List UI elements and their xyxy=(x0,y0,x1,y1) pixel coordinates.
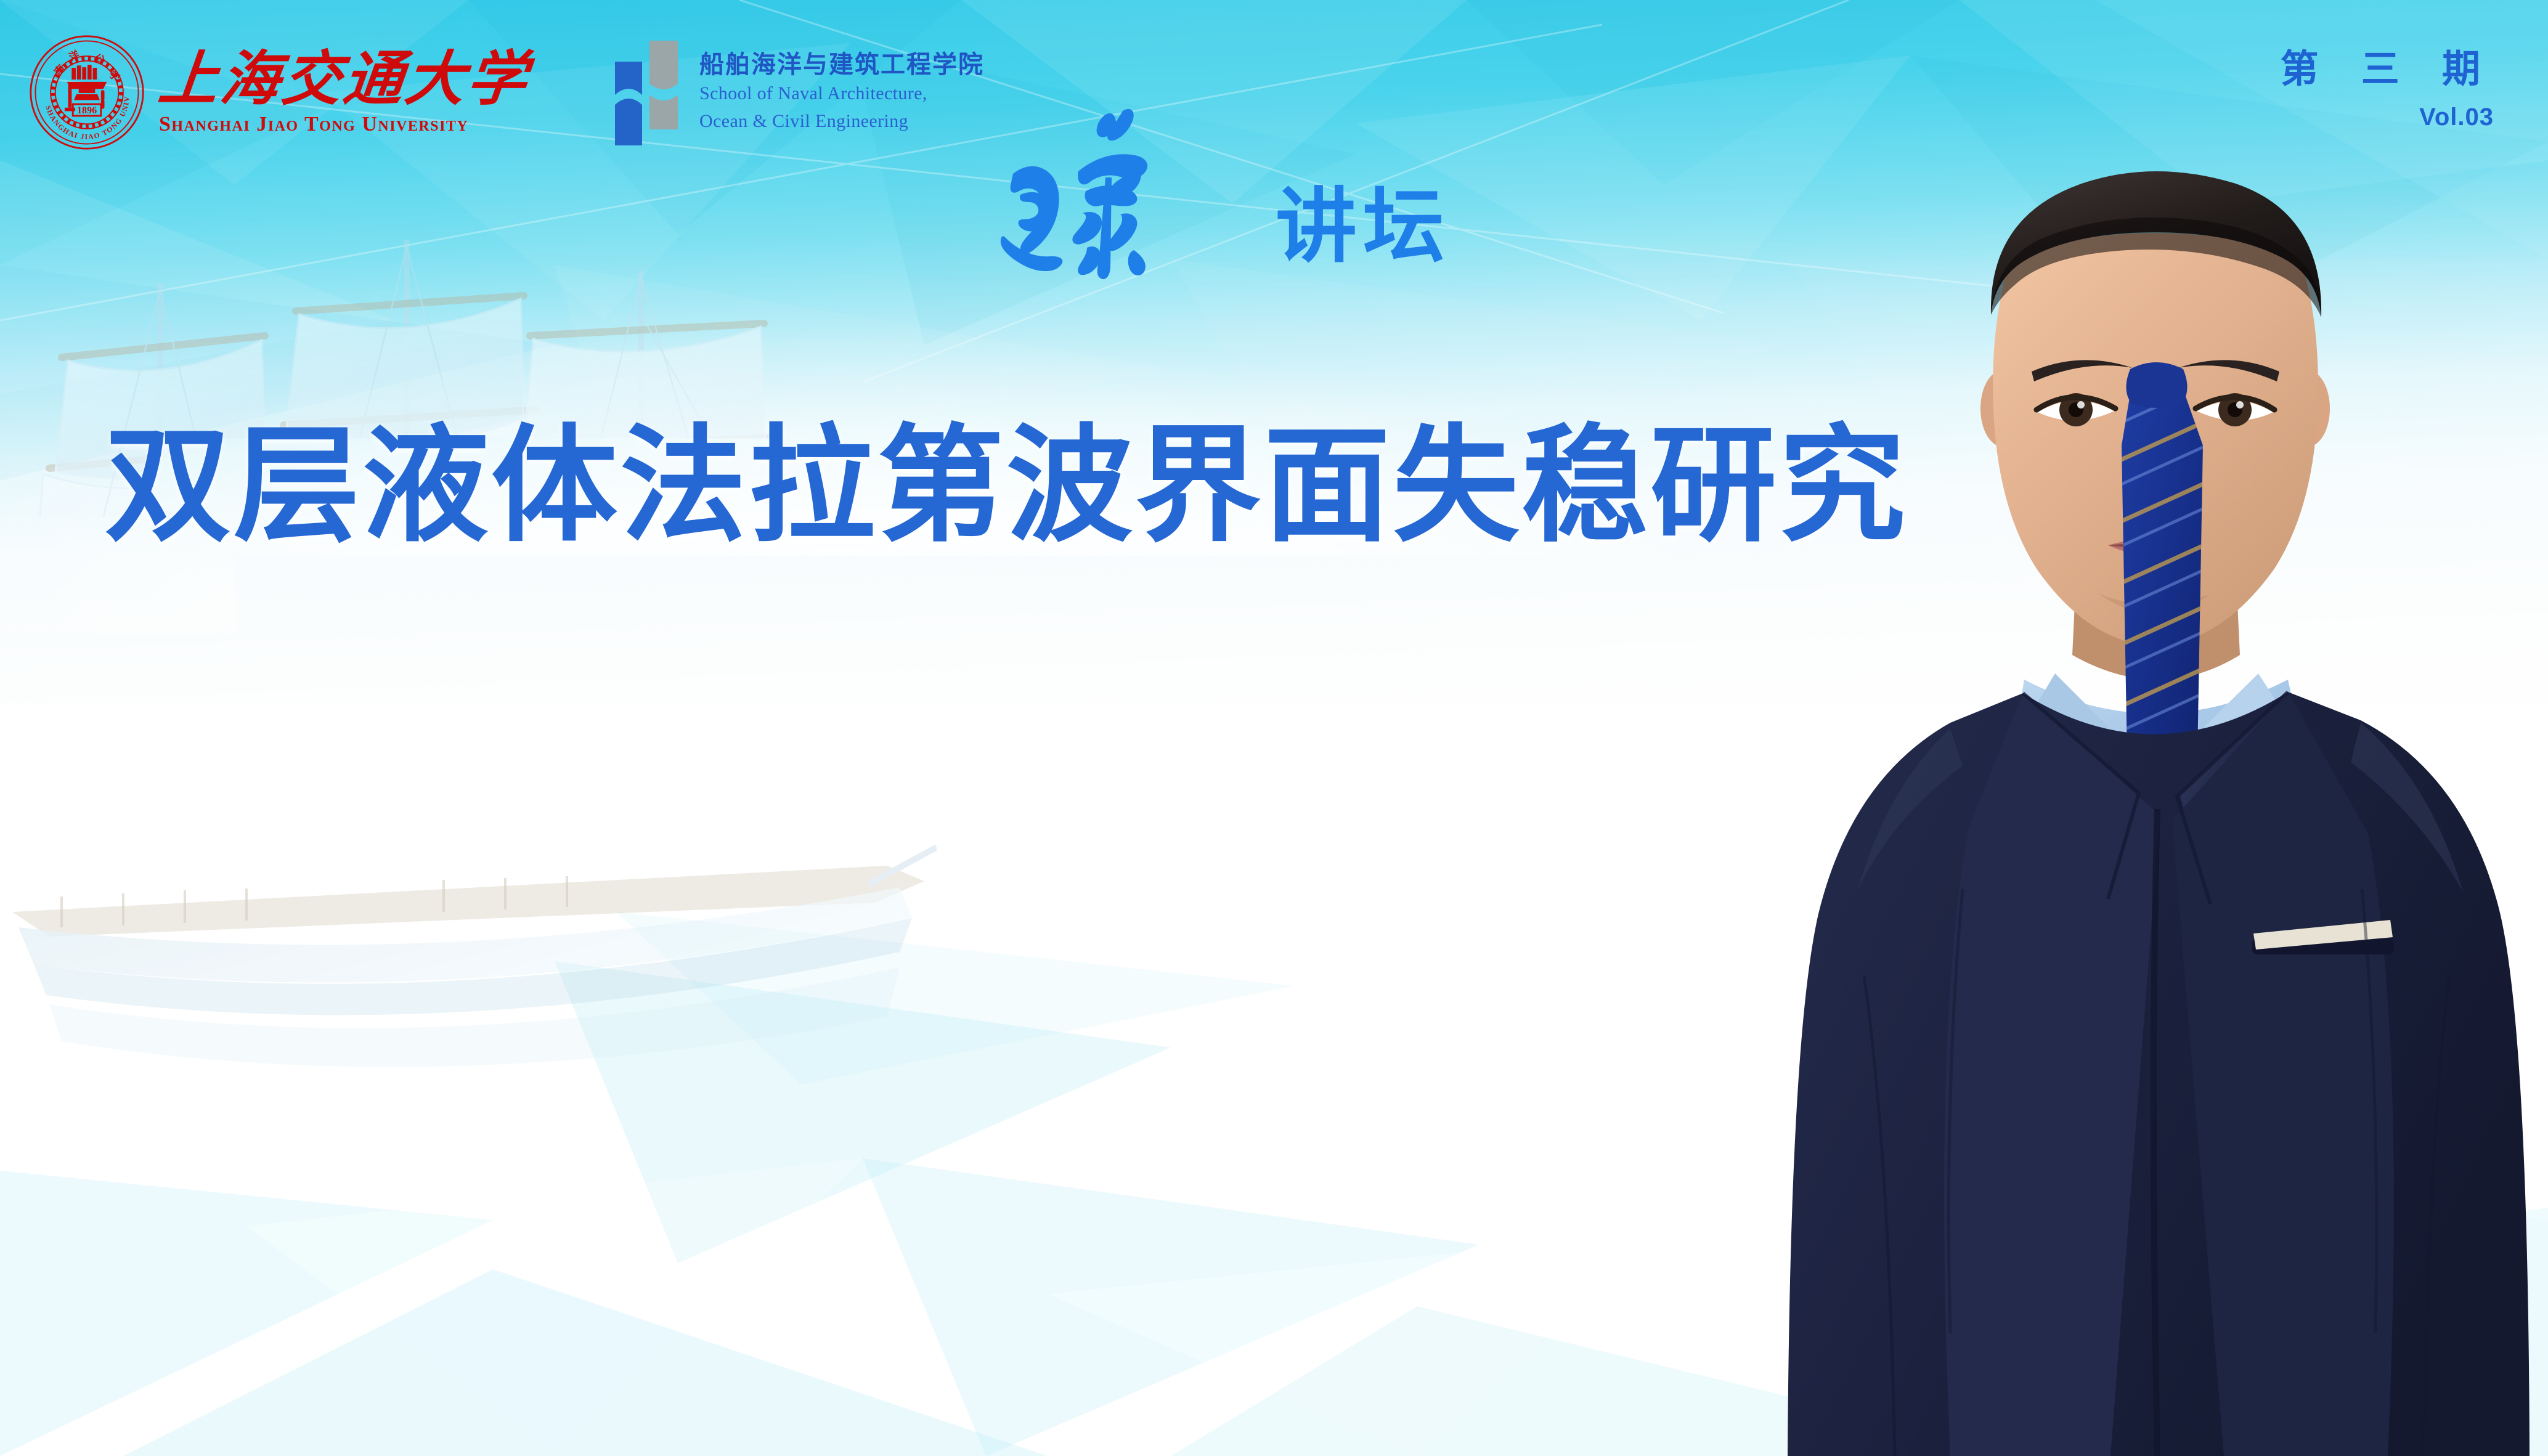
forum-brand-calligraphy-icon xyxy=(980,105,1269,290)
naoce-name-en-line1: School of Naval Architecture, xyxy=(699,81,984,106)
sjtu-name-cn: 上海交通大学 xyxy=(156,50,532,109)
lecture-poster: 1896 南 洋 公 学 SHANGHAI JIAO TONG UNIVERSI… xyxy=(0,0,2548,1456)
sjtu-seal-icon: 1896 南 洋 公 学 SHANGHAI JIAO TONG UNIVERSI… xyxy=(28,34,145,151)
event-time: 时间：2021年4月26日 15:00-17:00 xyxy=(92,1114,990,1183)
speaker-name-calligraphy xyxy=(641,635,1195,838)
naoce-name-en-line2: Ocean & Civil Engineering xyxy=(699,109,984,134)
logo-group: 1896 南 洋 公 学 SHANGHAI JIAO TONG UNIVERSI… xyxy=(28,34,984,151)
issue-number-cn: 第 三 期 xyxy=(2281,51,2499,89)
speaker-portrait xyxy=(1765,100,2548,1456)
speaker-affiliation: 四川大学教授 xyxy=(806,910,1176,969)
naoce-wordmark: 船舶海洋与建筑工程学院 School of Naval Architecture… xyxy=(699,51,984,133)
naoce-logo-lockup: 船舶海洋与建筑工程学院 School of Naval Architecture… xyxy=(610,36,984,150)
naoce-mark-icon xyxy=(610,36,687,150)
event-details: 时间：2021年4月26日 15:00-17:00 地点：木兰楼A100学生创新… xyxy=(92,1114,990,1253)
sjtu-logo-lockup: 1896 南 洋 公 学 SHANGHAI JIAO TONG UNIVERSI… xyxy=(28,34,529,151)
event-venue: 地点：木兰楼A100学生创新中心船建分中心 xyxy=(92,1184,990,1253)
svg-text:公: 公 xyxy=(93,52,107,67)
forum-brand: 讲坛 xyxy=(980,105,1451,290)
svg-text:1896: 1896 xyxy=(77,105,97,116)
naoce-name-cn: 船舶海洋与建筑工程学院 xyxy=(699,51,984,78)
lecture-title: 双层液体法拉第波界面失稳研究 xyxy=(105,423,1908,549)
forum-brand-text: 讲坛 xyxy=(1276,186,1451,290)
sjtu-wordmark: 上海交通大学 Shanghai Jiao Tong University xyxy=(159,50,529,135)
sjtu-name-en: Shanghai Jiao Tong University xyxy=(159,114,468,135)
